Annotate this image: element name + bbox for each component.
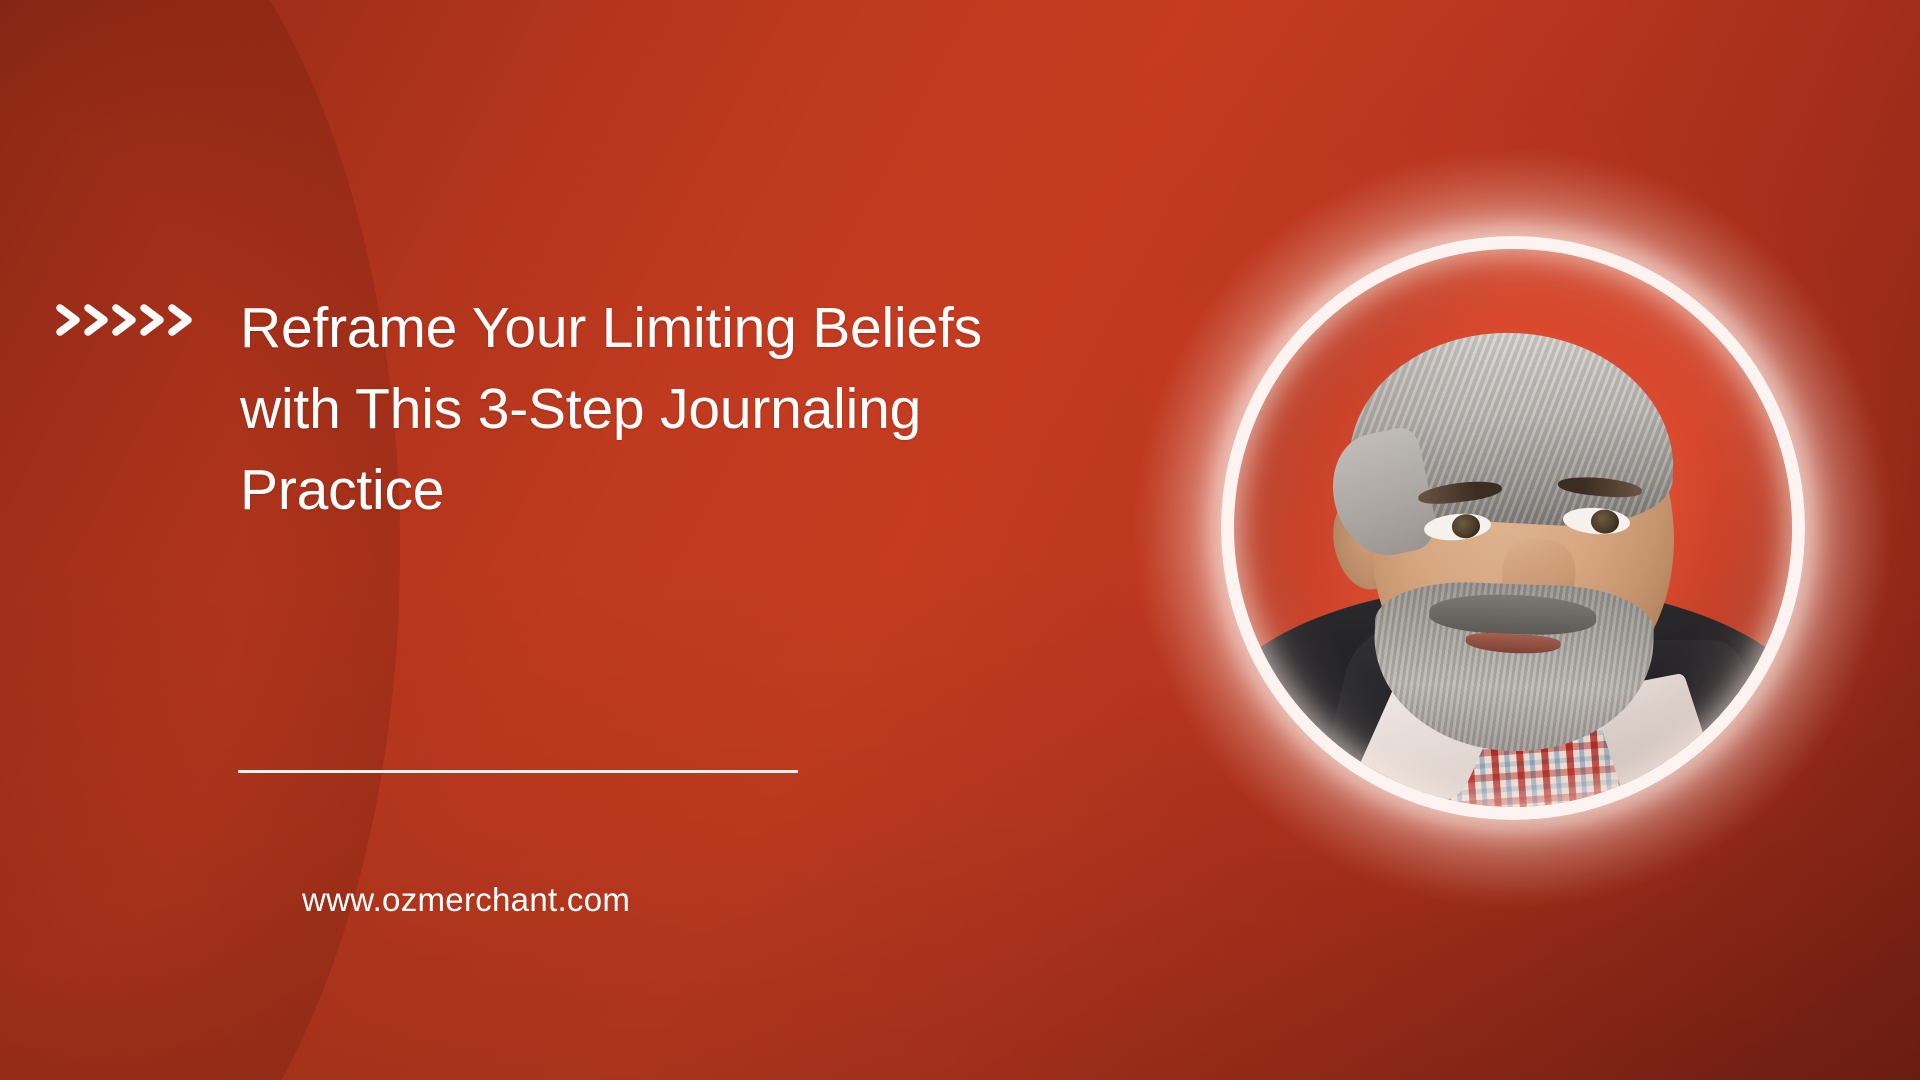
avatar: [1221, 236, 1805, 820]
divider-rule: [238, 770, 798, 773]
content-column: Reframe Your Limiting Beliefs with This …: [0, 0, 1060, 1080]
website-url[interactable]: www.ozmerchant.com: [302, 881, 630, 919]
double-chevron-right-icon: [55, 296, 215, 344]
page-title: Reframe Your Limiting Beliefs with This …: [240, 288, 1055, 531]
headline-block: Reframe Your Limiting Beliefs with This …: [55, 288, 1055, 531]
social-media-banner: Reframe Your Limiting Beliefs with This …: [0, 0, 1920, 1080]
avatar-ring: [1221, 236, 1805, 820]
